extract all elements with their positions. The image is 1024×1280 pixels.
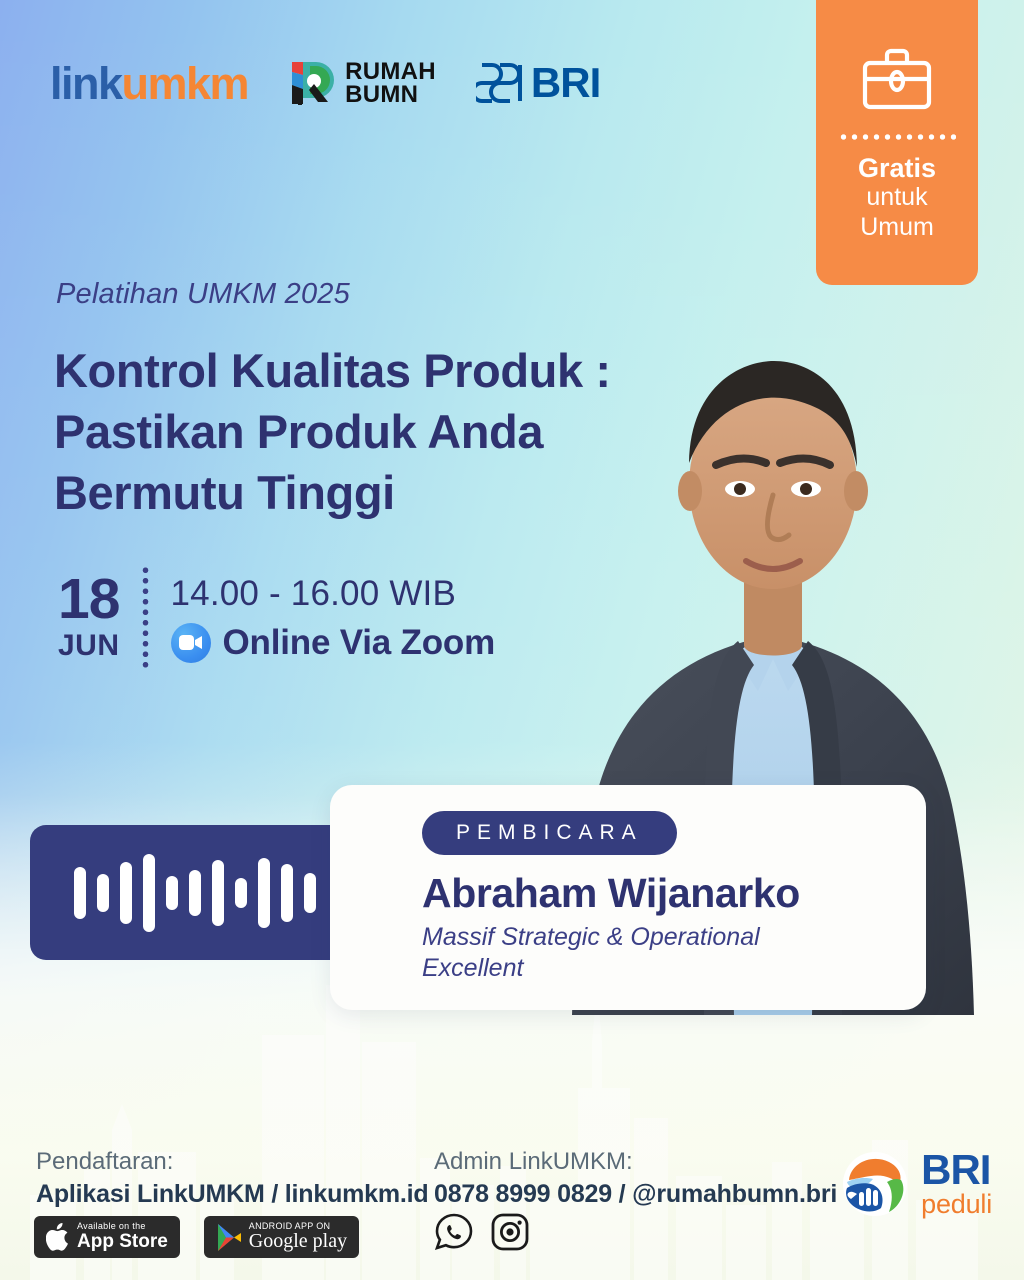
badge-line3: Umum <box>860 213 934 243</box>
linkumkm-logo-part1: link <box>50 58 122 109</box>
event-time: 14.00 - 16.00 WIB <box>171 574 496 614</box>
event-time-platform: 14.00 - 16.00 WIB Online Via Zoom <box>171 574 496 663</box>
bri-peduli-line1: BRI <box>921 1150 992 1190</box>
google-play-badge[interactable]: ANDROID APP ON Google play <box>204 1216 359 1258</box>
partner-logos: linkumkm RUMAH BUMN <box>50 58 600 108</box>
poster-canvas: linkumkm RUMAH BUMN <box>0 0 1024 1280</box>
admin-value: 0878 8999 0829 / @rumahbumn.bri <box>434 1180 837 1209</box>
rumah-bumn-mark-icon <box>288 58 336 108</box>
social-icons <box>434 1212 530 1252</box>
waveform-bar <box>235 878 247 908</box>
registration-info: Pendaftaran: Aplikasi LinkUMKM / linkumk… <box>36 1148 428 1209</box>
event-date: 18 JUN <box>58 573 120 663</box>
speaker-role: Massif Strategic & Operational Excellent <box>422 922 842 983</box>
whatsapp-icon[interactable] <box>434 1212 474 1252</box>
kicker-text: Pelatihan UMKM 2025 <box>56 278 350 311</box>
rumah-bumn-text: RUMAH BUMN <box>345 60 436 106</box>
admin-label: Admin LinkUMKM: <box>434 1148 837 1176</box>
registration-label: Pendaftaran: <box>36 1148 428 1176</box>
waveform-bar <box>143 854 155 932</box>
linkumkm-logo-part2: umkm <box>122 58 249 109</box>
free-badge: Gratis untuk Umum <box>816 0 978 285</box>
speaker-name: Abraham Wijanarko <box>422 870 926 917</box>
bri-logo: BRI <box>476 61 600 105</box>
waveform-bar <box>258 858 270 928</box>
app-store-badges: Available on the App Store ANDROID APP O… <box>34 1216 359 1258</box>
app-store-text: Available on the App Store <box>77 1222 168 1251</box>
waveform-bar <box>281 864 293 922</box>
waveform-bar <box>74 867 86 919</box>
badge-line2: untuk <box>866 183 927 213</box>
speaker-card: PEMBICARA Abraham Wijanarko Massif Strat… <box>330 785 926 1010</box>
bri-peduli-line2: peduli <box>921 1192 992 1218</box>
event-platform: Online Via Zoom <box>223 623 496 663</box>
bri-peduli-logo: BRI peduli <box>839 1148 992 1220</box>
bri-peduli-text: BRI peduli <box>921 1150 992 1218</box>
admin-info: Admin LinkUMKM: 0878 8999 0829 / @rumahb… <box>434 1148 837 1209</box>
page-title: Kontrol Kualitas Produk : Pastikan Produ… <box>54 340 694 523</box>
waveform-bar <box>166 876 178 910</box>
briefcase-icon <box>860 46 934 112</box>
video-camera-glyph-icon <box>179 635 202 650</box>
registration-value: Aplikasi LinkUMKM / linkumkm.id <box>36 1180 428 1209</box>
rumah-bumn-line2: BUMN <box>345 83 436 106</box>
waveform-bar <box>97 874 109 912</box>
event-date-day: 18 <box>58 573 120 625</box>
bri-mark-icon <box>476 61 528 105</box>
play-triangle-icon <box>216 1223 242 1252</box>
waveform-bar <box>304 873 316 913</box>
badge-line1: Gratis <box>858 154 936 183</box>
event-details: 18 JUN 14.00 - 16.00 WIB Online Via Zoom <box>58 565 495 671</box>
waveform-badge <box>30 825 360 960</box>
linkumkm-logo: linkumkm <box>50 61 248 106</box>
vertical-dotted-divider <box>142 565 149 671</box>
waveform-bar <box>120 862 132 924</box>
waveform-bar <box>189 870 201 916</box>
bri-peduli-hands-icon <box>839 1148 911 1220</box>
apple-icon <box>46 1223 70 1251</box>
speaker-badge-label: PEMBICARA <box>422 811 677 855</box>
event-date-month: JUN <box>58 629 120 663</box>
waveform-bar <box>212 860 224 926</box>
zoom-video-icon <box>171 623 211 663</box>
badge-dotted-divider <box>838 134 956 140</box>
google-play-text: ANDROID APP ON Google play <box>249 1222 347 1252</box>
rumah-bumn-line1: RUMAH <box>345 60 436 83</box>
bri-logo-text: BRI <box>531 62 600 104</box>
rumah-bumn-logo: RUMAH BUMN <box>288 58 436 108</box>
instagram-icon[interactable] <box>490 1212 530 1252</box>
app-store-big: App Store <box>77 1232 168 1252</box>
google-play-big: Google play <box>249 1231 347 1252</box>
app-store-badge[interactable]: Available on the App Store <box>34 1216 180 1258</box>
event-platform-row: Online Via Zoom <box>171 623 496 663</box>
